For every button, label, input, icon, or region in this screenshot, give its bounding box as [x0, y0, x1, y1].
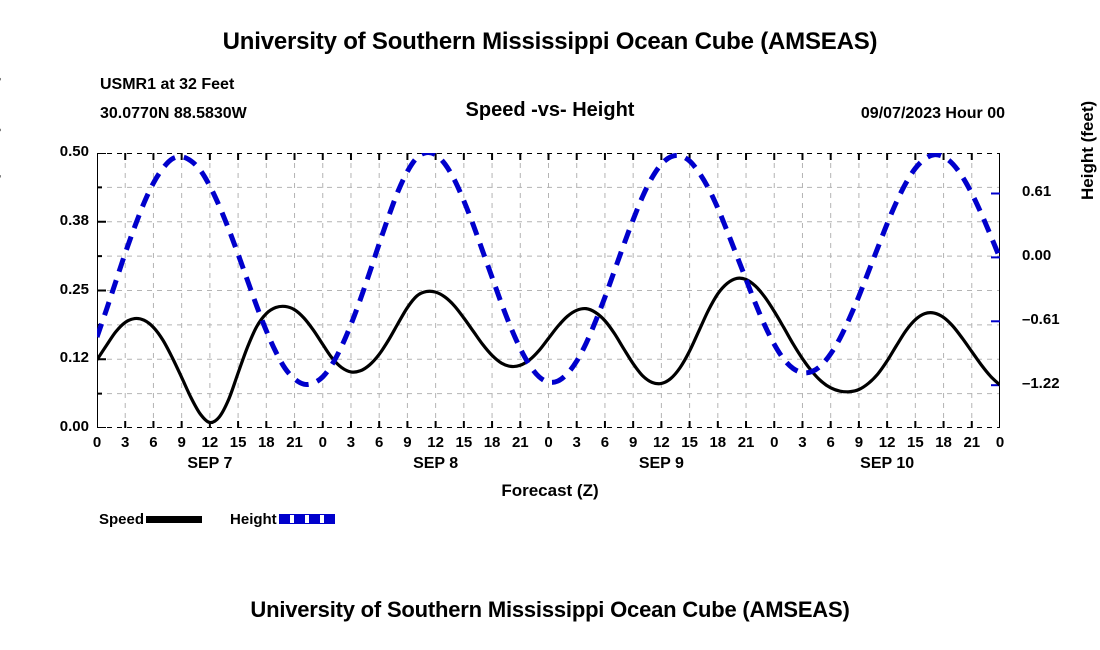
- plot-area: [97, 153, 1000, 428]
- x-tick-17: 3: [565, 434, 589, 451]
- x-tick-26: 6: [819, 434, 843, 451]
- x-tick-28: 12: [875, 434, 899, 451]
- day-label-3: SEP 10: [827, 455, 947, 473]
- x-tick-11: 9: [395, 434, 419, 451]
- x-tick-20: 12: [649, 434, 673, 451]
- x-tick-9: 3: [339, 434, 363, 451]
- x-tick-2: 6: [141, 434, 165, 451]
- x-tick-3: 9: [170, 434, 194, 451]
- x-tick-8: 0: [311, 434, 335, 451]
- x-axis-label: Forecast (Z): [0, 481, 1100, 501]
- day-label-0: SEP 7: [150, 455, 270, 473]
- y-tick-left-0.12: 0.12: [19, 349, 89, 366]
- x-tick-29: 15: [903, 434, 927, 451]
- x-tick-24: 0: [762, 434, 786, 451]
- legend-label-height: Height: [230, 511, 277, 528]
- x-tick-1: 3: [113, 434, 137, 451]
- page-title: University of Southern Mississippi Ocean…: [0, 28, 1100, 56]
- x-tick-15: 21: [508, 434, 532, 451]
- chart-page: University of Southern Mississippi Ocean…: [0, 0, 1100, 650]
- legend-swatch-speed: [146, 516, 202, 523]
- x-tick-25: 3: [790, 434, 814, 451]
- x-tick-23: 21: [734, 434, 758, 451]
- x-tick-31: 21: [960, 434, 984, 451]
- x-tick-19: 9: [621, 434, 645, 451]
- footer-title: University of Southern Mississippi Ocean…: [0, 597, 1100, 623]
- y-tick-left-0.38: 0.38: [19, 212, 89, 229]
- x-tick-32: 0: [988, 434, 1012, 451]
- x-tick-0: 0: [85, 434, 109, 451]
- x-tick-18: 6: [593, 434, 617, 451]
- y-tick-right--1.22: –1.22: [1022, 375, 1092, 392]
- x-tick-16: 0: [537, 434, 561, 451]
- y-tick-right--0.61: –0.61: [1022, 311, 1092, 328]
- x-tick-22: 18: [706, 434, 730, 451]
- legend-swatch-height: [279, 514, 335, 524]
- x-tick-10: 6: [367, 434, 391, 451]
- x-tick-30: 18: [932, 434, 956, 451]
- x-tick-4: 12: [198, 434, 222, 451]
- station-name: USMR1 at 32 Feet: [100, 76, 234, 94]
- forecast-datestamp: 09/07/2023 Hour 00: [861, 105, 1005, 123]
- x-tick-12: 12: [424, 434, 448, 451]
- day-label-1: SEP 8: [376, 455, 496, 473]
- legend-label-speed: Speed: [99, 511, 144, 528]
- x-tick-7: 21: [283, 434, 307, 451]
- x-tick-13: 15: [452, 434, 476, 451]
- y-tick-right-0.00: 0.00: [1022, 247, 1092, 264]
- chart-legend: Speed Height: [99, 508, 335, 530]
- x-tick-27: 9: [847, 434, 871, 451]
- y-tick-left-0.50: 0.50: [19, 143, 89, 160]
- y-tick-left-0.00: 0.00: [19, 418, 89, 435]
- plot-svg: [97, 153, 1000, 428]
- y-tick-left-0.25: 0.25: [19, 281, 89, 298]
- day-label-2: SEP 9: [601, 455, 721, 473]
- x-tick-6: 18: [254, 434, 278, 451]
- y-axis-left-label: Speed (Knots): [0, 75, 2, 190]
- x-tick-5: 15: [226, 434, 250, 451]
- x-tick-21: 15: [678, 434, 702, 451]
- x-tick-14: 18: [480, 434, 504, 451]
- y-tick-right-0.61: 0.61: [1022, 183, 1092, 200]
